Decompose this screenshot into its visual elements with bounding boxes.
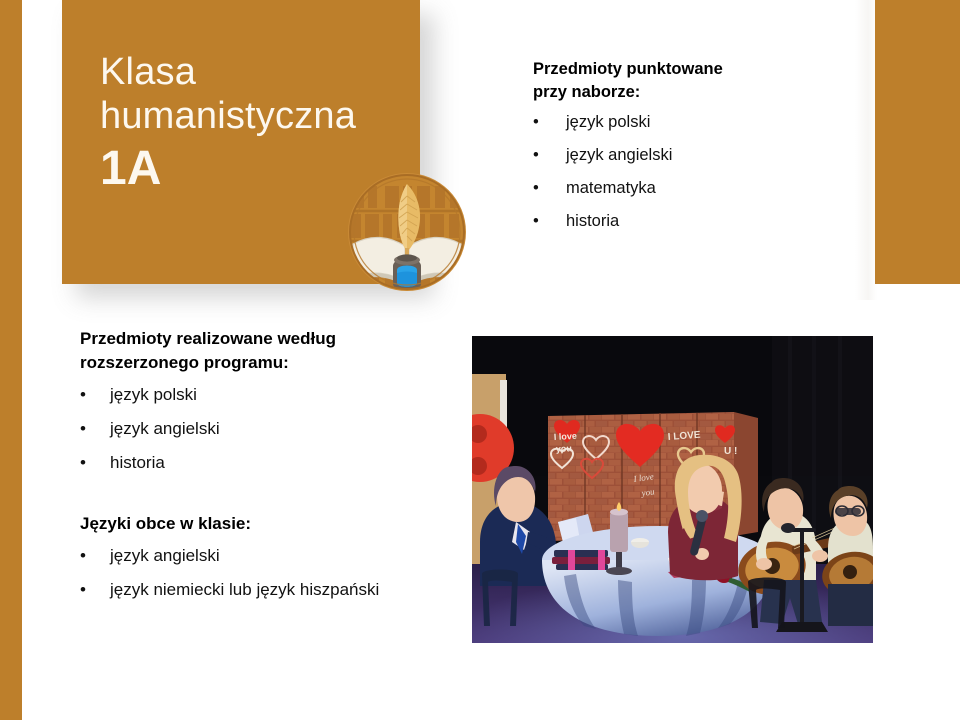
page-title: Klasa humanistyczna (100, 50, 400, 138)
book-quill-inkwell-icon (345, 170, 469, 294)
bullet-icon: • (80, 452, 86, 473)
list-item-label: historia (110, 453, 165, 472)
svg-text:U !: U ! (724, 446, 737, 457)
list-item-label: język angielski (566, 146, 672, 164)
stage-performance-photo: I love you I LOVE U ! I love you (472, 336, 873, 643)
bullet-icon: • (80, 579, 86, 600)
list-item: •język polski (533, 112, 863, 145)
list-item: •historia (533, 211, 863, 244)
list-item-label: historia (566, 212, 619, 230)
extended-program-list: •język polski •język angielski •historia (80, 384, 470, 486)
list-item-label: język angielski (110, 419, 220, 438)
list-item-label: język polski (110, 385, 197, 404)
svg-text:I love: I love (554, 431, 578, 442)
list-item: •historia (80, 452, 470, 486)
list-item: •język niemiecki lub język hiszpański (80, 579, 480, 613)
right-accent-bar (875, 0, 960, 284)
bullet-icon: • (533, 145, 539, 165)
bullet-icon: • (533, 178, 539, 198)
recruitment-list: •język polski •język angielski •matematy… (533, 112, 863, 244)
bullet-icon: • (533, 112, 539, 132)
foreign-languages-heading: Języki obce w klasie: (80, 512, 480, 536)
left-accent-bar (0, 0, 22, 720)
bullet-icon: • (80, 384, 86, 405)
svg-text:you: you (556, 443, 573, 454)
svg-text:I LOVE: I LOVE (667, 430, 701, 443)
extended-program-block: Przedmioty realizowane według rozszerzon… (80, 327, 470, 486)
bullet-icon: • (80, 545, 86, 566)
list-item-label: matematyka (566, 179, 656, 197)
recruitment-block: Przedmioty punktowane przy naborze: •jęz… (533, 58, 863, 244)
recruitment-heading: Przedmioty punktowane przy naborze: (533, 58, 863, 104)
list-item: •język angielski (533, 145, 863, 178)
list-item: •język angielski (80, 545, 480, 579)
bullet-icon: • (80, 418, 86, 439)
list-item: •matematyka (533, 178, 863, 211)
list-item: •język angielski (80, 418, 470, 452)
foreign-languages-list: •język angielski •język niemiecki lub ję… (80, 545, 480, 613)
list-item-label: język angielski (110, 546, 220, 565)
extended-program-heading: Przedmioty realizowane według rozszerzon… (80, 327, 470, 375)
slide-root: Klasa humanistyczna 1A (0, 0, 960, 720)
list-item: •język polski (80, 384, 470, 418)
bullet-icon: • (533, 211, 539, 231)
list-item-label: język polski (566, 113, 650, 131)
svg-text:you: you (640, 486, 656, 498)
foreign-languages-block: Języki obce w klasie: •język angielski •… (80, 512, 480, 613)
list-item-label: język niemiecki lub język hiszpański (110, 580, 379, 599)
